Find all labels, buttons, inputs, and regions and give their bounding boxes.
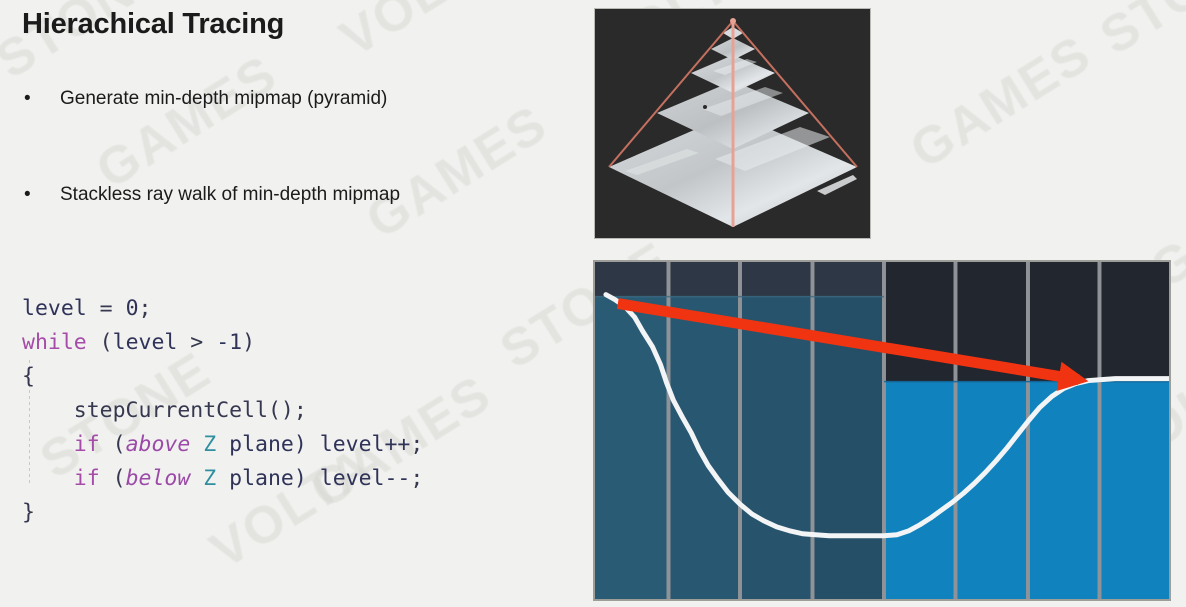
code-token: below [126,466,191,491]
code-token: plane) [216,466,320,491]
code-token: ( [87,330,113,355]
code-line: level = 0; [22,292,423,326]
code-token: = [87,296,126,321]
cell-shade-left [668,297,740,599]
code-token [22,466,74,491]
code-token: } [22,500,35,525]
page-title: Hierachical Tracing [22,8,284,41]
code-line: if (above Z plane) level++; [22,428,423,462]
code-token: > [177,330,216,355]
code-token: 0 [126,296,139,321]
code-token [190,432,203,457]
bullet-item-1: • Stackless ray walk of min-depth mipmap [22,182,582,208]
code-token: plane) [216,432,320,457]
code-token: stepCurrentCell [74,398,268,423]
code-token: while [22,330,87,355]
code-line: { [22,360,423,394]
code-line: if (below Z plane) level--; [22,462,423,496]
code-token: ; [410,466,423,491]
watermark-text: GAMES [900,24,1102,181]
bullet-item-0: • Generate min-depth mipmap (pyramid) [22,86,582,112]
code-token: -1 [216,330,242,355]
bullet-text-0: Generate min-depth mipmap (pyramid) [46,86,387,112]
code-token: ) [242,330,255,355]
watermark-text: STONE [1090,0,1186,67]
code-token: ; [139,296,152,321]
mipmap-pyramid-svg [595,9,870,238]
code-token: level [22,296,87,321]
pyramid-apex-marker [730,18,736,24]
code-token: level++ [320,432,411,457]
code-token: above [126,432,191,457]
code-token [190,466,203,491]
bullet-marker-icon: • [22,86,46,112]
mipmap-pyramid-figure [594,8,871,239]
slide-left-column: Hierachical Tracing • Generate min-depth… [0,0,593,607]
min-depth-mipmap-svg [595,262,1169,599]
code-line: } [22,496,423,530]
code-token: Z [203,466,216,491]
code-token: ( [100,466,126,491]
code-line: while (level > -1) [22,326,423,360]
code-token: (); [268,398,307,423]
code-line: stepCurrentCell(); [22,394,423,428]
code-token: ; [410,432,423,457]
code-token: if [74,466,100,491]
code-snippet: level = 0;while (level > -1){ stepCurren… [22,292,423,530]
code-token [22,398,74,423]
min-depth-mipmap-chart [593,260,1171,601]
code-token: ( [100,432,126,457]
bullet-marker-icon: • [22,182,46,208]
code-token: { [22,364,35,389]
bullet-text-1: Stackless ray walk of min-depth mipmap [46,182,400,208]
code-token: level-- [320,466,411,491]
code-token: if [74,432,100,457]
code-token: Z [203,432,216,457]
code-token [22,432,74,457]
code-token: level [113,330,178,355]
cell-shade-left [740,297,812,599]
